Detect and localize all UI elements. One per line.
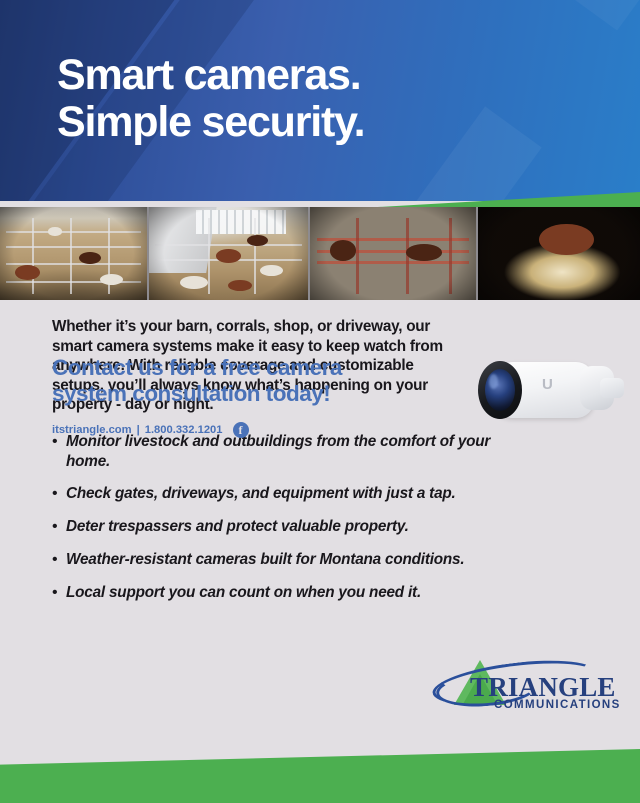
livestock (48, 227, 61, 235)
header-banner: Smart cameras. Simple security. (0, 0, 640, 201)
phone-link[interactable]: 1.800.332.1201 (145, 424, 223, 436)
pen-rail (6, 246, 141, 248)
marketing-flyer: Smart cameras. Simple security. (0, 0, 640, 803)
list-item-label: Local support you can count on when you … (66, 583, 507, 603)
cta-heading-line-2: system consultation today! (52, 381, 412, 407)
livestock (79, 252, 101, 264)
headline-line-1: Smart cameras. (57, 52, 597, 99)
list-item: • Check gates, driveways, and equipment … (52, 484, 507, 504)
list-item-label: Check gates, driveways, and equipment wi… (66, 484, 507, 504)
triangle-communications-logo: TRIANGLE COMMUNICATIONS (432, 658, 612, 720)
livestock (228, 280, 252, 291)
contact-separator: | (137, 424, 140, 436)
pen-rail (6, 231, 141, 233)
header-diagonal-stripe (520, 0, 640, 31)
photo-barn-pen-livestock-camera-view (0, 207, 147, 300)
photo-gated-corral-cattle-camera-view (310, 207, 475, 300)
page-title: Smart cameras. Simple security. (57, 52, 597, 146)
corral-gate-rail (317, 261, 469, 264)
pen-rail (155, 244, 302, 246)
list-item-label: Deter trespassers and protect valuable p… (66, 517, 507, 537)
website-link[interactable]: itstriangle.com (52, 424, 132, 436)
bullet-marker-icon: • (52, 517, 66, 537)
corral-post (356, 218, 359, 294)
pen-post (254, 218, 256, 294)
livestock (406, 244, 442, 261)
bullet-marker-icon: • (52, 550, 66, 570)
pen-post (208, 218, 210, 294)
headline-line-2: Simple security. (57, 99, 597, 146)
bullet-marker-icon: • (52, 484, 66, 504)
call-to-action: Contact us for a free camera system cons… (52, 355, 412, 438)
corral-post (449, 218, 452, 294)
cta-heading: Contact us for a free camera system cons… (52, 355, 412, 407)
cta-heading-line-1: Contact us for a free camera (52, 355, 412, 381)
livestock (247, 235, 268, 246)
livestock (330, 240, 356, 260)
bullet-security-camera-image: U (468, 336, 632, 444)
livestock (180, 276, 207, 289)
contact-row: itstriangle.com | 1.800.332.1201 (52, 422, 412, 438)
list-item: • Deter trespassers and protect valuable… (52, 517, 507, 537)
scene-background (0, 207, 147, 300)
bullet-marker-icon: • (52, 583, 66, 603)
list-item: • Local support you can count on when yo… (52, 583, 507, 603)
camera-brand-mark: U (542, 376, 553, 393)
benefits-list: • Monitor livestock and outbuildings fro… (52, 432, 507, 616)
pen-post (70, 218, 72, 294)
photo-barn-interior-cattle-sheep-camera-view (149, 207, 309, 300)
livestock (100, 274, 123, 285)
list-item: • Weather-resistant cameras built for Mo… (52, 550, 507, 570)
barn-window (196, 210, 285, 234)
photo-night-vision-calf-camera-view (478, 207, 640, 300)
livestock (216, 249, 242, 263)
livestock (260, 265, 282, 276)
camera-arm (600, 378, 624, 398)
camera-photo-strip (0, 207, 640, 300)
facebook-icon[interactable] (233, 422, 249, 438)
list-item-label: Weather-resistant cameras built for Mont… (66, 550, 507, 570)
pen-post (32, 218, 34, 294)
camera-lens-glint (489, 374, 498, 389)
logo-tagline: COMMUNICATIONS (494, 699, 621, 711)
livestock (15, 265, 40, 280)
